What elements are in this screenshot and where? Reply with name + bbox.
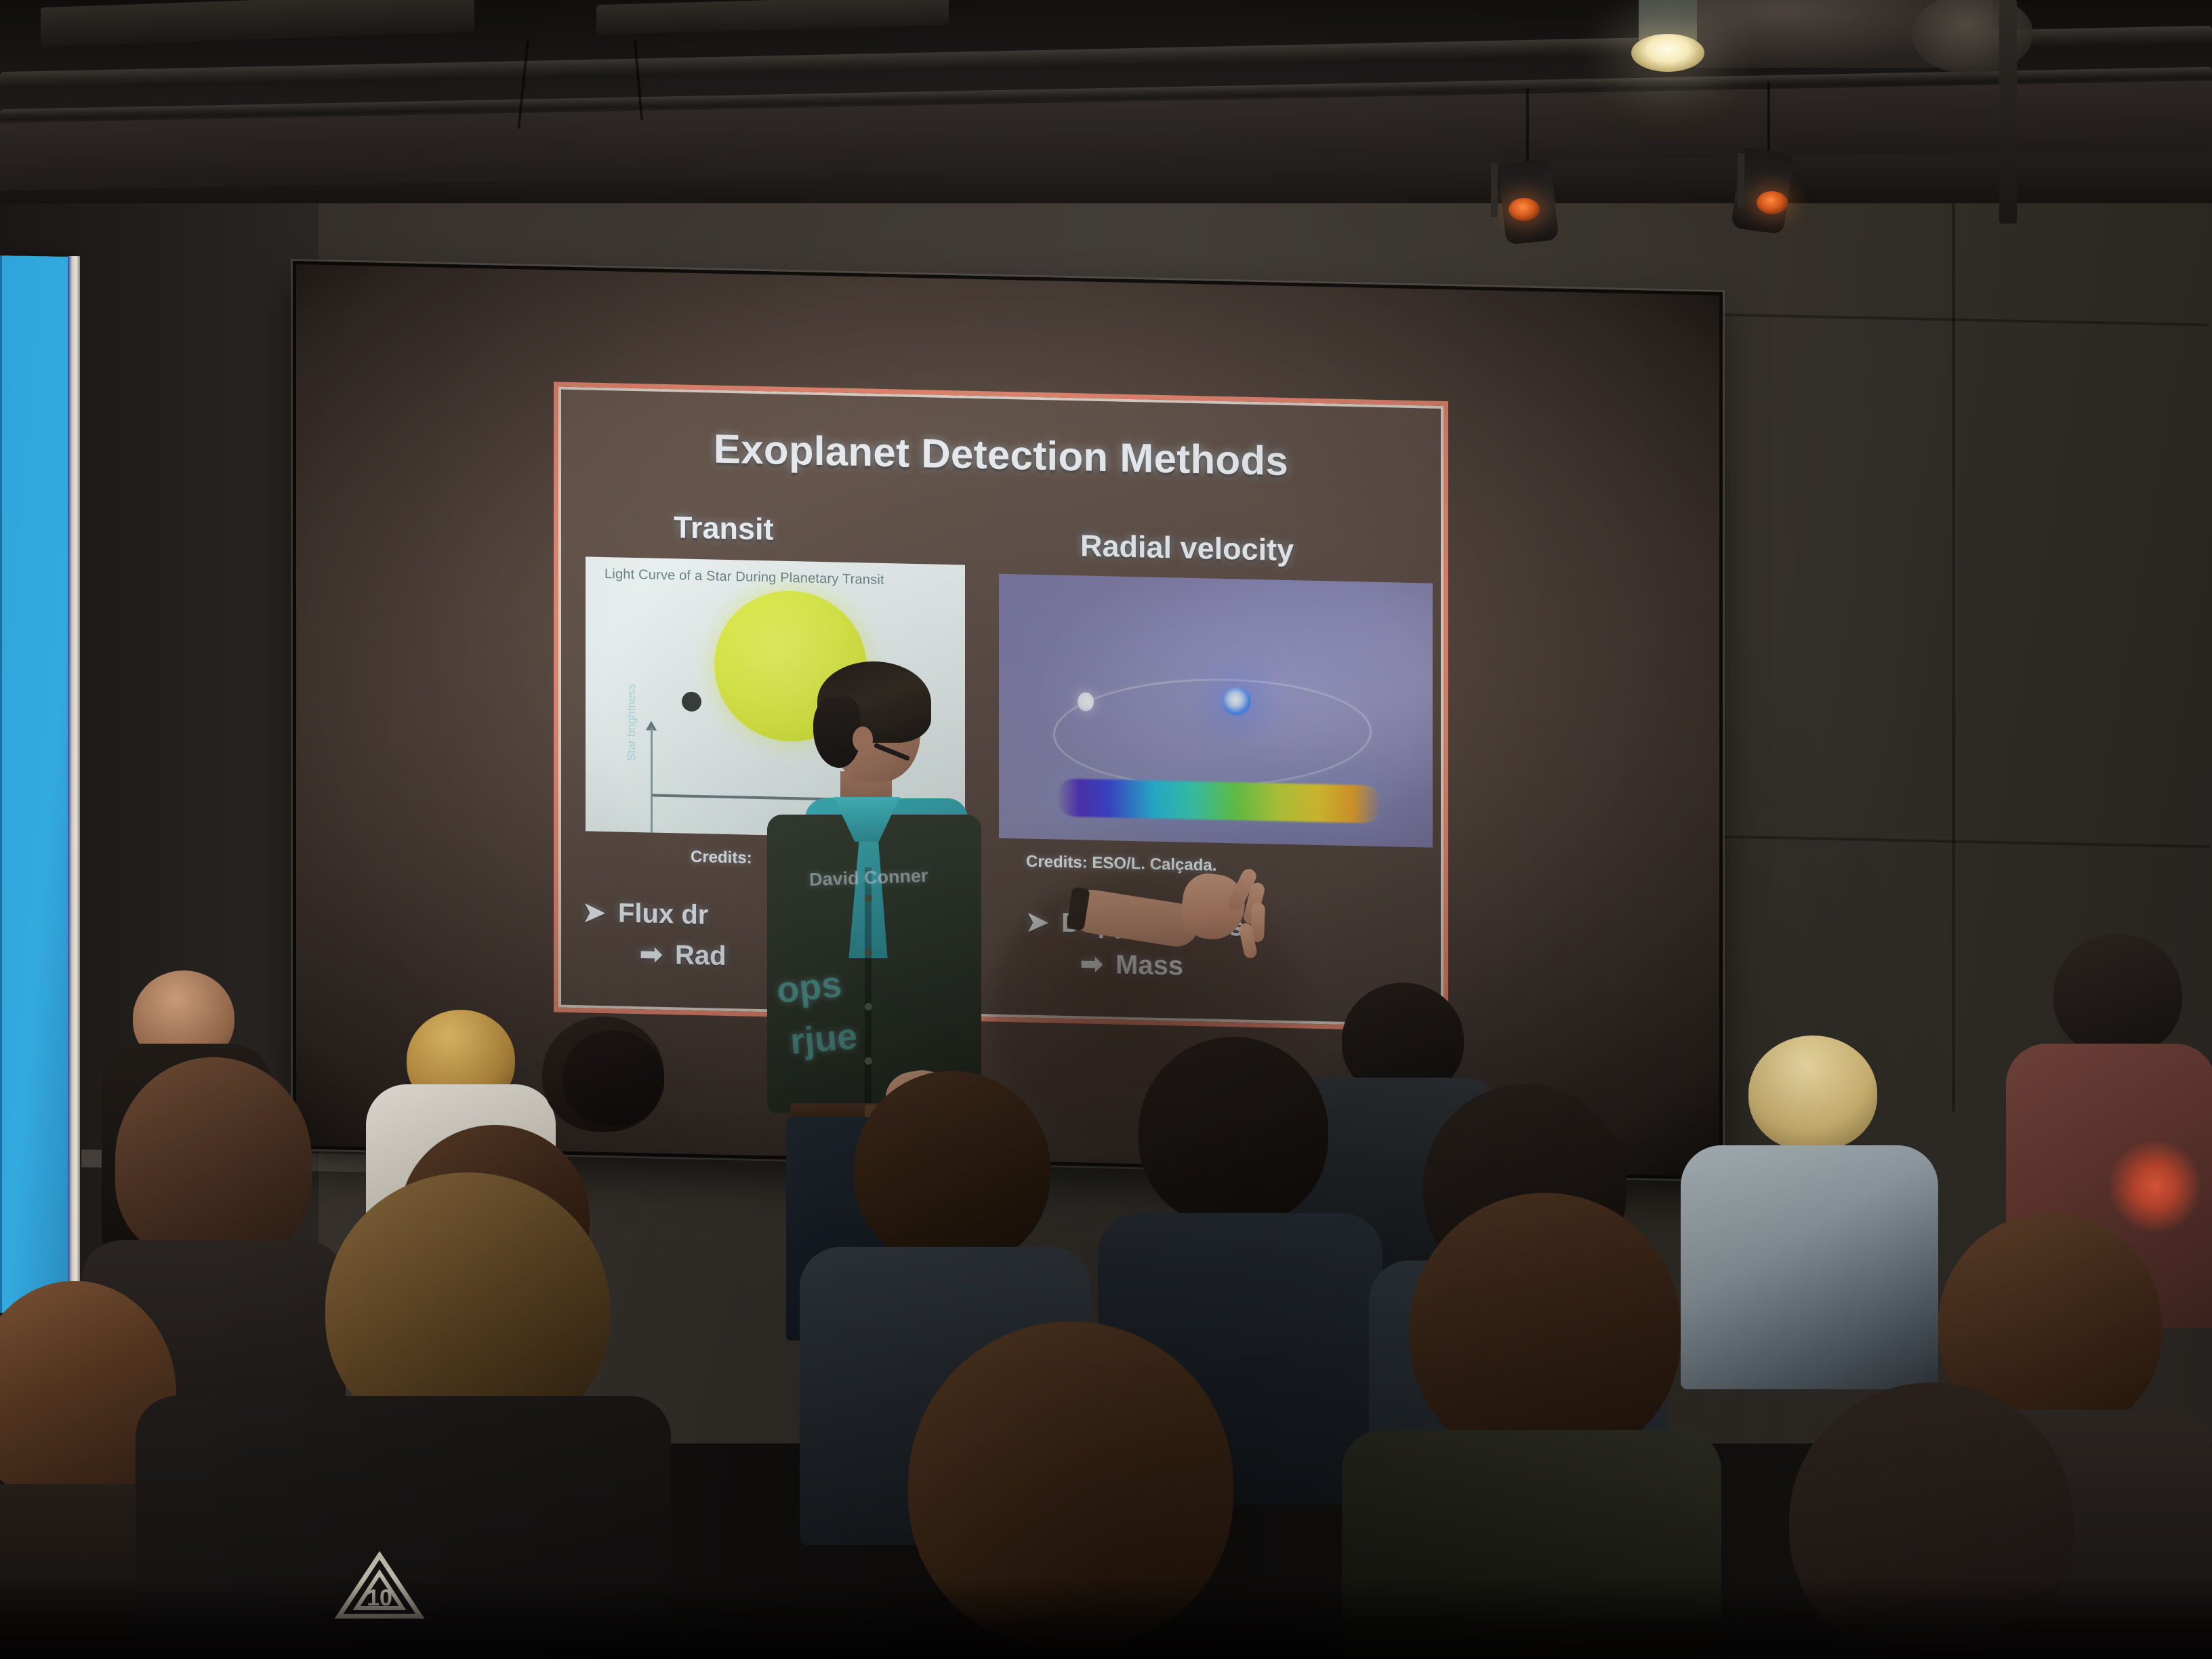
- audience-body-plaid: [1681, 1145, 1938, 1389]
- blue-banner: [0, 255, 68, 1314]
- presentation-room: Exoplanet Detection Methods Transit Radi…: [0, 0, 2212, 1659]
- shirt-button-3: [865, 1003, 872, 1010]
- shirt-button-2: [865, 949, 872, 956]
- pendant-light-glow: [1631, 34, 1704, 72]
- shirt-button-1: [865, 895, 872, 902]
- speaker-shirt-placket: [865, 867, 872, 1105]
- y-axis-label: Star brightness: [625, 653, 638, 761]
- bullet-transit-secondary: ➡Rad: [640, 939, 726, 972]
- spotlight-yoke-left: [1491, 163, 1498, 217]
- wall-seam-3: [1952, 163, 1955, 1111]
- audience-head-curly-left: [115, 1057, 312, 1261]
- light-curve-caption: Light Curve of a Star During Planetary T…: [605, 567, 957, 590]
- audience-head-blonde-right: [1748, 1036, 1877, 1151]
- speaker-ear: [853, 726, 873, 752]
- audience-head-front-right: [1410, 1193, 1681, 1464]
- shirt-button-4: [865, 1057, 872, 1065]
- foreground-shadow: [0, 1578, 2212, 1659]
- slide-heading-radial-velocity: Radial velocity: [1080, 528, 1294, 568]
- spotlight-yoke-right: [1738, 153, 1744, 207]
- arrow-forward-icon: ➡: [640, 939, 675, 970]
- spotlight-lens-right: [1757, 191, 1788, 214]
- audience-head-floral-shirt-person: [2053, 934, 2182, 1056]
- y-axis: [651, 728, 653, 840]
- bullet-transit-primary-label: Flux dr: [618, 898, 708, 930]
- slide-heading-transit: Transit: [674, 510, 774, 547]
- audience-head-center-dark: [1139, 1037, 1328, 1227]
- floral-pattern-accent: [2108, 1139, 2203, 1233]
- audience-head-glasses: [562, 1030, 664, 1125]
- blue-banner-edge: [68, 256, 80, 1313]
- planet-icon: [682, 692, 701, 712]
- audience-head-center-brown: [854, 1071, 1050, 1267]
- arrow-right-icon: ➤: [583, 897, 618, 928]
- slide-title: Exoplanet Detection Methods: [558, 422, 1443, 488]
- spotlight-lens-left: [1509, 198, 1540, 221]
- bullet-transit-primary: ➤Flux dr: [583, 897, 708, 930]
- ceiling-beam-vertical: [1999, 0, 2017, 224]
- bullet-transit-secondary-label: Rad: [675, 940, 726, 971]
